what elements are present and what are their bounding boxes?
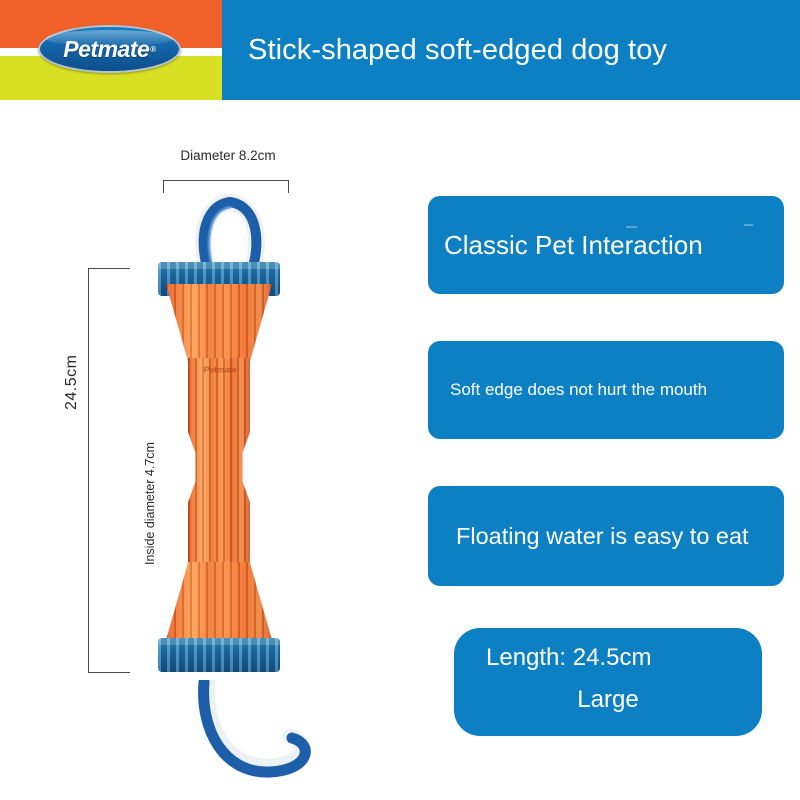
feature-box-soft-edge[interactable]: Soft edge does not hurt the mouth — [428, 341, 784, 439]
feature-text-2: Soft edge does not hurt the mouth — [450, 380, 707, 400]
registered-trademark-icon: ® — [150, 45, 155, 54]
length-tick-bottom — [88, 672, 130, 673]
body-cone-bottom — [166, 562, 272, 640]
body-shaft — [188, 358, 250, 564]
logo-wordmark-text: Petmate — [63, 36, 149, 63]
feature-box-classic-pet-interaction[interactable]: Classic Pet Interaction — [428, 196, 784, 294]
spec-length-value: Length: 24.5cm — [486, 644, 651, 672]
product-emboss-text: Petmate — [192, 363, 248, 377]
length-tick-top — [88, 268, 130, 269]
length-label: 24.5cm — [63, 355, 81, 410]
page-title: Stick-shaped soft-edged dog toy — [248, 0, 788, 100]
feature-box-floating-water[interactable]: Floating water is easy to eat — [428, 486, 784, 586]
product-image: Petmate — [148, 190, 338, 790]
product-infographic: Stick-shaped soft-edged dog toy Petmate®… — [0, 0, 800, 800]
body-cone-bottom-ribs — [166, 562, 272, 640]
spec-box-size[interactable]: Length: 24.5cm Large — [454, 628, 762, 736]
rope-strap-bottom — [160, 680, 330, 790]
body-shaft-ribs — [188, 358, 250, 564]
spec-size-value: Large — [454, 686, 762, 714]
feature-box-artifact-left — [626, 226, 637, 228]
collar-bottom-ridges — [158, 638, 280, 672]
body-cone-top — [166, 284, 272, 362]
diameter-label: Diameter 8.2cm — [163, 148, 293, 163]
collar-bottom — [158, 638, 280, 672]
logo-wordmark: Petmate® — [38, 25, 181, 73]
feature-box-artifact-right — [744, 224, 753, 226]
feature-text-3: Floating water is easy to eat — [456, 523, 749, 550]
diameter-bracket-line — [163, 180, 289, 181]
length-bracket-line — [88, 268, 89, 673]
body-cone-top-ribs — [166, 284, 272, 362]
header-banner: Stick-shaped soft-edged dog toy Petmate® — [0, 0, 800, 100]
petmate-logo: Petmate® — [38, 25, 181, 73]
feature-text-1: Classic Pet Interaction — [444, 230, 703, 261]
